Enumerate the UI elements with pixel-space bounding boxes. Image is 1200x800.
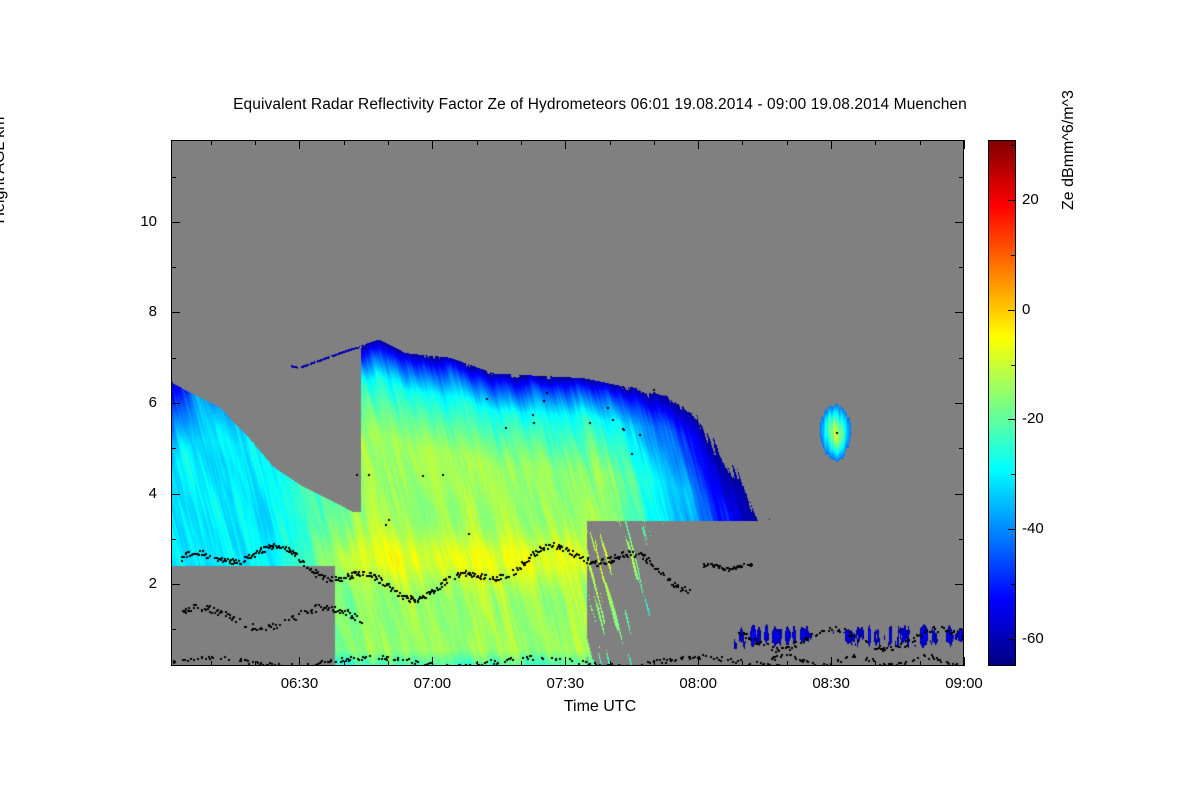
colorbar-tick-label: 20: [1022, 191, 1039, 208]
x-tick-top: [875, 140, 876, 145]
colorbar-tick-label: -60: [1022, 630, 1044, 647]
x-tick-label: 07:30: [520, 675, 610, 692]
x-tick-top: [299, 140, 300, 149]
y-tick-left: [171, 222, 180, 223]
x-tick-bottom: [920, 661, 921, 666]
x-tick-top: [388, 140, 389, 145]
x-tick-top: [787, 140, 788, 145]
x-tick-bottom: [565, 657, 566, 666]
reflectivity-heatmap: [171, 140, 964, 666]
x-tick-top: [610, 140, 611, 145]
x-tick-bottom: [610, 661, 611, 666]
plot-area: [171, 140, 964, 666]
x-tick-top: [432, 140, 433, 149]
y-axis-title: Height AGL km: [0, 40, 9, 300]
x-tick-top: [565, 140, 566, 149]
y-tick-left: [171, 448, 176, 449]
x-tick-bottom: [299, 657, 300, 666]
x-tick-top: [255, 140, 256, 145]
x-tick-bottom: [388, 661, 389, 666]
x-tick-bottom: [698, 657, 699, 666]
colorbar-tick-label: 0: [1022, 301, 1030, 318]
colorbar-tick: [1008, 639, 1016, 640]
x-tick-bottom: [477, 661, 478, 666]
y-tick-left: [171, 267, 176, 268]
x-tick-bottom: [255, 661, 256, 666]
x-tick-top: [964, 140, 965, 149]
colorbar-tick: [1008, 310, 1016, 311]
x-tick-bottom: [432, 657, 433, 666]
y-tick-label: 2: [85, 575, 157, 592]
x-tick-bottom: [787, 661, 788, 666]
figure-root: Equivalent Radar Reflectivity Factor Ze …: [0, 0, 1200, 800]
x-tick-bottom: [211, 661, 212, 666]
x-tick-bottom: [742, 661, 743, 666]
x-tick-top: [698, 140, 699, 149]
y-tick-right: [959, 448, 964, 449]
x-tick-top: [344, 140, 345, 145]
x-tick-top: [211, 140, 212, 145]
x-tick-bottom: [654, 661, 655, 666]
colorbar-tick-label: -20: [1022, 410, 1044, 427]
y-tick-left: [171, 629, 176, 630]
x-tick-bottom: [344, 661, 345, 666]
y-tick-right: [955, 584, 964, 585]
x-tick-bottom: [831, 657, 832, 666]
colorbar-tick: [1011, 255, 1016, 256]
colorbar-tick: [1011, 584, 1016, 585]
x-tick-top: [654, 140, 655, 145]
y-tick-label: 6: [85, 394, 157, 411]
y-tick-left: [171, 403, 180, 404]
y-tick-label: 8: [85, 303, 157, 320]
y-tick-left: [171, 494, 180, 495]
x-tick-label: 08:30: [786, 675, 876, 692]
y-tick-right: [959, 267, 964, 268]
y-tick-right: [959, 358, 964, 359]
x-tick-top: [521, 140, 522, 145]
colorbar-tick: [1008, 419, 1016, 420]
x-tick-top: [742, 140, 743, 145]
x-tick-top: [920, 140, 921, 145]
y-tick-left: [171, 358, 176, 359]
y-tick-right: [955, 403, 964, 404]
colorbar-title: Ze dBmm^6/m^3: [1060, 0, 1078, 300]
x-tick-top: [477, 140, 478, 145]
colorbar-tick: [1008, 529, 1016, 530]
y-tick-label: 4: [85, 485, 157, 502]
y-tick-left: [171, 177, 176, 178]
colorbar-tick: [1011, 365, 1016, 366]
colorbar-tick: [1011, 474, 1016, 475]
colorbar-tick-label: -40: [1022, 520, 1044, 537]
y-tick-right: [955, 312, 964, 313]
x-tick-bottom: [521, 661, 522, 666]
x-tick-top: [831, 140, 832, 149]
y-tick-left: [171, 312, 180, 313]
x-tick-label: 07:00: [387, 675, 477, 692]
x-tick-bottom: [964, 657, 965, 666]
y-tick-right: [959, 629, 964, 630]
y-tick-left: [171, 584, 180, 585]
y-tick-right: [959, 539, 964, 540]
colorbar-tick: [1011, 145, 1016, 146]
colorbar-tick: [1008, 200, 1016, 201]
y-tick-label: 10: [85, 213, 157, 230]
x-tick-label: 09:00: [919, 675, 1009, 692]
x-axis-title: Time UTC: [0, 698, 1200, 716]
y-tick-right: [955, 222, 964, 223]
chart-title: Equivalent Radar Reflectivity Factor Ze …: [0, 96, 1200, 114]
colorbar: [988, 140, 1016, 666]
x-tick-label: 06:30: [254, 675, 344, 692]
y-tick-left: [171, 539, 176, 540]
y-tick-right: [955, 494, 964, 495]
colorbar-gradient: [988, 140, 1016, 666]
y-tick-right: [959, 177, 964, 178]
x-tick-label: 08:00: [653, 675, 743, 692]
x-tick-bottom: [875, 661, 876, 666]
